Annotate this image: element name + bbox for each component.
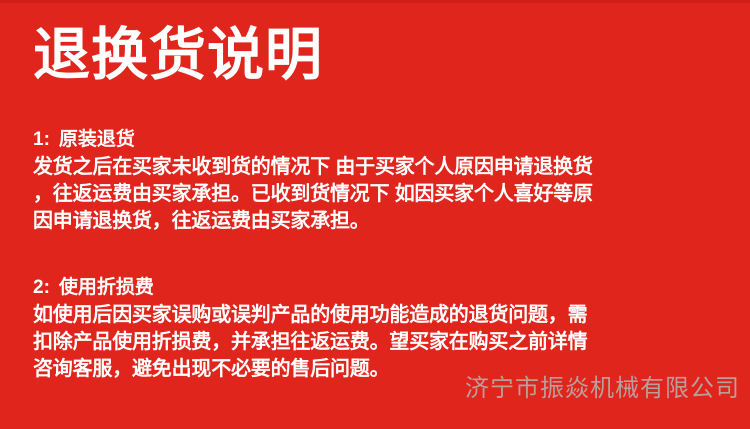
section-heading: 1:原装退货: [33, 126, 723, 153]
section-heading-label: 使用折损费: [59, 277, 154, 298]
policy-section-usage-depreciation-fee: 2:使用折损费 如使用后因买家误购或误判产品的使用功能造成的退货问题，需 扣除产…: [33, 274, 723, 383]
section-body: 如使用后因买家误购或误判产品的使用功能造成的退货问题，需 扣除产品使用折损费，并…: [33, 302, 723, 383]
section-number: 1:: [33, 129, 50, 150]
section-body: 发货之后在买家未收到货的情况下 由于买家个人原因申请退换货 ，往返运费由买家承担…: [33, 154, 723, 235]
body-line: 因申请退换货，往返运费由买家承担。: [33, 208, 723, 235]
company-watermark: 济宁市振焱机械有限公司: [465, 374, 740, 404]
return-policy-poster: 退换货说明 1:原装退货 发货之后在买家未收到货的情况下 由于买家个人原因申请退…: [0, 0, 750, 429]
body-line: 扣除产品使用折损费，并承担往返运费。望买家在购买之前详情: [33, 329, 723, 356]
page-title: 退换货说明: [33, 21, 323, 89]
policy-section-original-return: 1:原装退货 发货之后在买家未收到货的情况下 由于买家个人原因申请退换货 ，往返…: [33, 126, 723, 235]
body-line: 如使用后因买家误购或误判产品的使用功能造成的退货问题，需: [33, 302, 723, 329]
body-line: ，往返运费由买家承担。已收到货情况下 如因买家个人喜好等原: [33, 181, 723, 208]
section-heading-label: 原装退货: [59, 129, 135, 150]
section-heading: 2:使用折损费: [33, 274, 723, 301]
body-line: 发货之后在买家未收到货的情况下 由于买家个人原因申请退换货: [33, 154, 723, 181]
section-number: 2:: [33, 277, 50, 298]
